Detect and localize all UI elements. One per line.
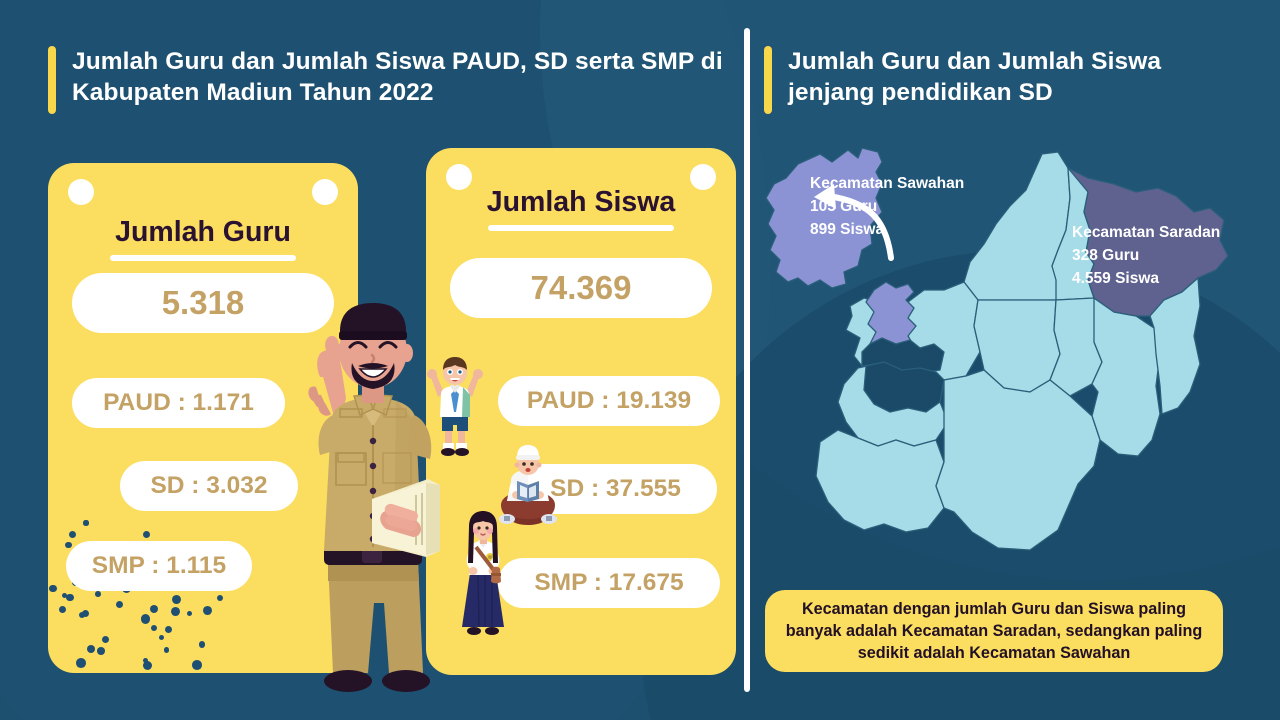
card-divider-rule <box>110 255 296 261</box>
card-punch-hole-right <box>312 179 338 205</box>
siswa-total-value: 74.369 <box>450 258 712 318</box>
guru-smp-value: SMP : 1.115 <box>66 541 252 591</box>
vertical-divider <box>744 28 750 692</box>
card-heading-guru: Jumlah Guru <box>48 216 358 249</box>
student-boy-cheering-illustration <box>425 357 485 462</box>
guru-sd-value: SD : 3.032 <box>120 461 298 511</box>
map-annotation-saradan: Kecamatan Saradan 328 Guru 4.559 Siswa <box>1072 221 1220 290</box>
siswa-paud-value: PAUD : 19.139 <box>498 376 720 426</box>
card-divider-rule <box>488 225 674 231</box>
right-panel-title: Jumlah Guru dan Jumlah Siswa jenjang pen… <box>764 46 1244 114</box>
map-annotation-sawahan: Kecamatan Sawahan 105 Guru 899 Siswa <box>810 172 964 241</box>
annotation-teacher-count: 105 Guru <box>810 195 964 218</box>
map-region-south-center[interactable] <box>936 370 1100 550</box>
student-girl-illustration <box>452 511 514 641</box>
map-summary-caption: Kecamatan dengan jumlah Guru dan Siswa p… <box>765 590 1223 672</box>
annotation-teacher-count: 328 Guru <box>1072 244 1220 267</box>
caption-text: Kecamatan dengan jumlah Guru dan Siswa p… <box>775 598 1213 664</box>
map-region-north[interactable] <box>964 152 1070 300</box>
annotation-student-count: 899 Siswa <box>810 218 964 241</box>
card-punch-hole-left <box>68 179 94 205</box>
title-accent-bar <box>764 46 772 114</box>
left-title-text: Jumlah Guru dan Jumlah Siswa PAUD, SD se… <box>72 46 728 108</box>
map-region-south-west[interactable] <box>816 430 944 532</box>
map-region-east-lower[interactable] <box>1092 298 1160 456</box>
guru-paud-value: PAUD : 1.171 <box>72 378 285 428</box>
title-accent-bar <box>48 46 56 114</box>
card-heading-siswa: Jumlah Siswa <box>426 186 736 219</box>
left-panel-title: Jumlah Guru dan Jumlah Siswa PAUD, SD se… <box>48 46 728 114</box>
annotation-region-name: Kecamatan Saradan <box>1072 221 1220 244</box>
siswa-smp-value: SMP : 17.675 <box>498 558 720 608</box>
annotation-region-name: Kecamatan Sawahan <box>810 172 964 195</box>
right-title-text: Jumlah Guru dan Jumlah Siswa jenjang pen… <box>788 46 1244 108</box>
annotation-student-count: 4.559 Siswa <box>1072 267 1220 290</box>
